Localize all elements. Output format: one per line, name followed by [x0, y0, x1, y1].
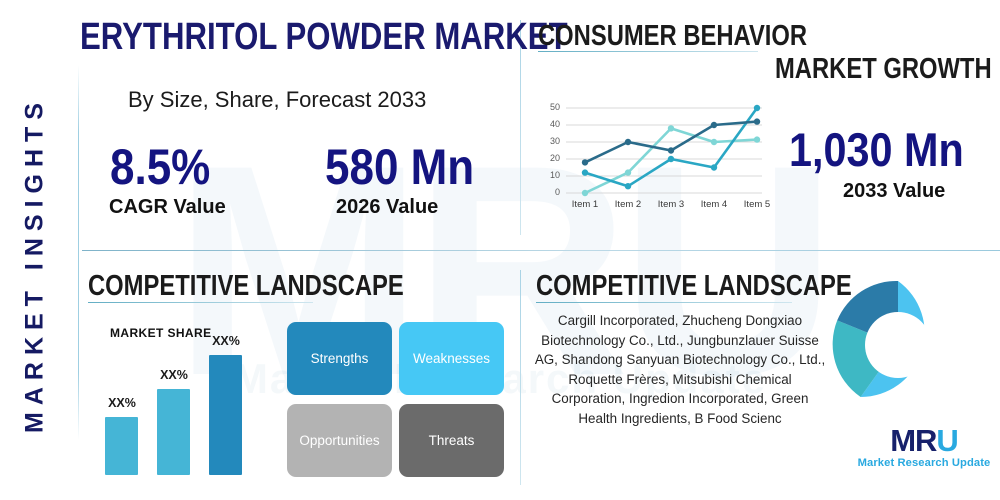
ytick-50: 50 — [540, 102, 560, 112]
xtick-item-1: Item 1 — [563, 199, 607, 210]
chart-gridlines — [566, 108, 762, 193]
market-insights-label: MARKET INSIGHTS — [21, 85, 50, 445]
market-share-donut-chart — [832, 279, 964, 411]
ytick-10: 10 — [540, 170, 560, 180]
swot-matrix: Strengths Weaknesses Opportunities Threa… — [287, 322, 509, 478]
donut-center-hole — [865, 312, 931, 378]
kpi-2026-label: 2026 Value — [336, 196, 438, 219]
section-competitive-landscape-right: COMPETITIVE LANDSCAPE — [536, 270, 852, 303]
bar-3-label: XX% — [196, 334, 256, 348]
horizontal-divider — [82, 250, 1000, 251]
kpi-cagr-value: 8.5% — [110, 138, 210, 196]
page-title: ERYTHRITOL POWDER MARKET — [80, 16, 568, 59]
ytick-40: 40 — [540, 119, 560, 129]
line-chart-svg — [540, 100, 770, 215]
vertical-divider-bottom — [520, 270, 521, 485]
kpi-2033-value: 1,030 Mn — [789, 122, 964, 177]
bar-3 — [209, 355, 242, 475]
section-consumer-behavior: CONSUMER BEHAVIOR — [538, 20, 807, 53]
xtick-item-5: Item 5 — [735, 199, 779, 210]
ytick-30: 30 — [540, 136, 560, 146]
market-share-bar-chart: XX% XX% XX% — [100, 355, 275, 475]
swot-weaknesses[interactable]: Weaknesses — [399, 322, 504, 395]
competitive-landscape-right-underline — [536, 302, 792, 303]
page-subtitle: By Size, Share, Forecast 2033 — [128, 87, 426, 113]
kpi-cagr-label: CAGR Value — [109, 196, 226, 219]
consumer-behavior-underline — [538, 51, 758, 52]
bar-2-label: XX% — [144, 368, 204, 382]
xtick-item-4: Item 4 — [692, 199, 736, 210]
infographic-canvas: MRU Market Research Update MARKET INSIGH… — [0, 0, 1000, 500]
mru-logo-u: U — [936, 423, 957, 458]
rail-divider — [78, 65, 79, 440]
section-competitive-landscape-left: COMPETITIVE LANDSCAPE — [88, 270, 404, 303]
section-market-growth: MARKET GROWTH — [775, 53, 992, 86]
mru-logo-text: MRU — [856, 424, 992, 457]
ytick-20: 20 — [540, 153, 560, 163]
mru-logo-tagline: Market Research Update — [856, 457, 992, 469]
kpi-2026-value: 580 Mn — [325, 138, 474, 196]
bar-2 — [157, 389, 190, 475]
bar-1 — [105, 417, 138, 475]
series-2-points — [582, 105, 760, 190]
swot-opportunities[interactable]: Opportunities — [287, 404, 392, 477]
market-insights-rail: MARKET INSIGHTS — [0, 60, 70, 490]
xtick-item-2: Item 2 — [606, 199, 650, 210]
kpi-2033-label: 2033 Value — [843, 180, 945, 203]
bar-1-label: XX% — [92, 396, 152, 410]
series-2-teal — [585, 108, 757, 186]
ytick-0: 0 — [540, 187, 560, 197]
xtick-item-3: Item 3 — [649, 199, 693, 210]
competitive-landscape-left-underline — [88, 302, 313, 303]
swot-strengths[interactable]: Strengths — [287, 322, 392, 395]
mru-logo-mr: MR — [890, 423, 936, 458]
mru-logo: MRU Market Research Update — [856, 424, 992, 469]
swot-threats[interactable]: Threats — [399, 404, 504, 477]
consumer-behavior-line-chart: 50 40 30 20 10 0 Item 1 Item 2 Item 3 It… — [540, 100, 770, 215]
company-list: Cargill Incorporated, Zhucheng Dongxiao … — [534, 311, 826, 429]
